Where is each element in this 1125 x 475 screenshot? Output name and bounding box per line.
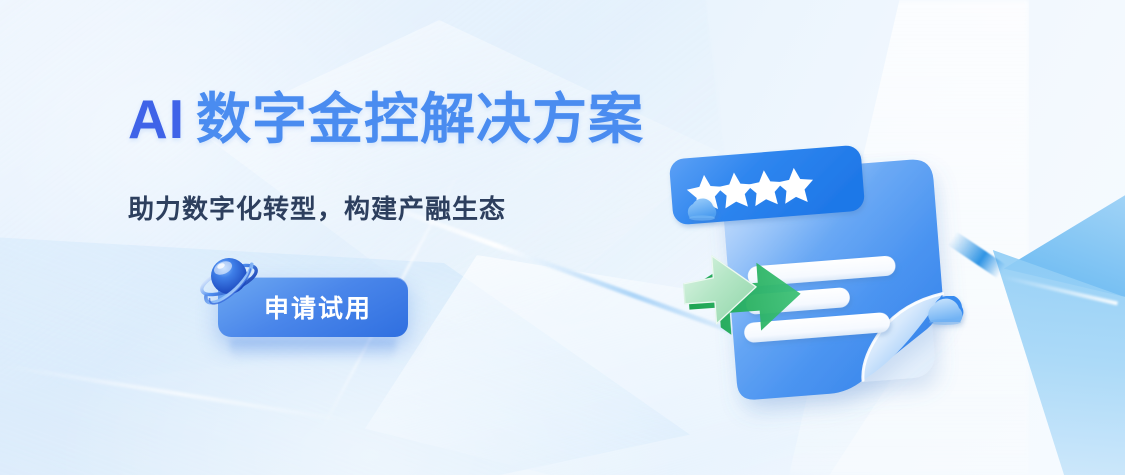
hero-copy: AI数字金控解决方案 助力数字化转型，构建产融生态 — [128, 92, 644, 226]
apply-trial-button[interactable]: 申请试用 — [218, 277, 408, 337]
document-illustration — [675, 118, 1035, 418]
cta-area: 申请试用 — [218, 277, 408, 337]
page-subtitle: 助力数字化转型，构建产融生态 — [128, 189, 644, 226]
page-title-main: 数字金控解决方案 — [196, 88, 644, 150]
cta-reflection — [230, 339, 396, 361]
background-crease-line — [2, 364, 358, 424]
page-title-prefix: AI — [128, 88, 185, 150]
page-title: AI数字金控解决方案 — [128, 92, 644, 147]
hero-banner: AI数字金控解决方案 助力数字化转型，构建产融生态 申请试用 — [0, 0, 1125, 475]
background-facet-c — [0, 230, 690, 475]
